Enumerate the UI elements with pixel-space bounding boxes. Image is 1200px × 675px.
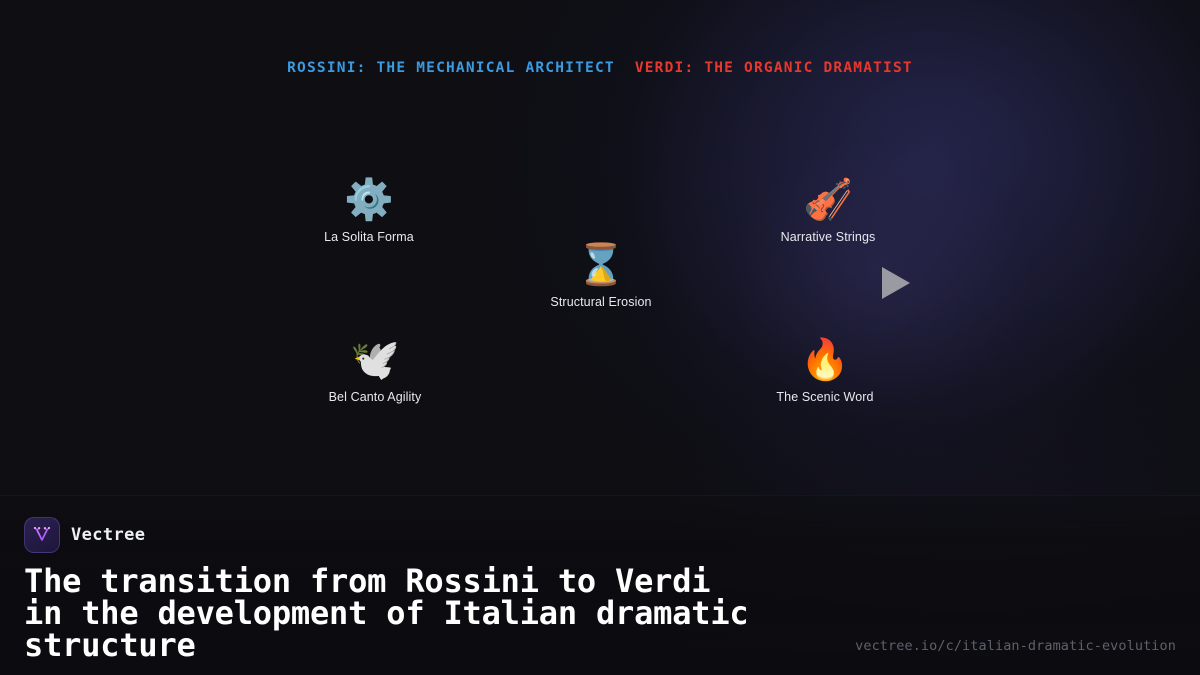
vectree-logo-icon [24, 517, 60, 553]
hourglass-icon: ⌛ [496, 241, 706, 289]
column-headers: ROSSINI: THE MECHANICAL ARCHITECTVERDI: … [0, 60, 1200, 76]
play-triangle-icon[interactable] [882, 267, 910, 299]
column-header-verdi: VERDI: THE ORGANIC DRAMATIST [635, 60, 913, 76]
node-label: The Scenic Word [720, 390, 930, 404]
node-label: Structural Erosion [496, 295, 706, 309]
node-the-scenic-word[interactable]: 🔥 The Scenic Word [720, 336, 930, 404]
footer: Vectree The transition from Rossini to V… [0, 495, 1200, 675]
node-label: La Solita Forma [264, 230, 474, 244]
node-label: Bel Canto Agility [270, 390, 480, 404]
page-title: The transition from Rossini to Verdi in … [24, 565, 904, 661]
violin-icon: 🎻 [723, 176, 933, 224]
node-bel-canto-agility[interactable]: 🕊️ Bel Canto Agility [270, 336, 480, 404]
node-la-solita-forma[interactable]: ⚙️ La Solita Forma [264, 176, 474, 244]
brand-row: Vectree [24, 518, 1176, 552]
node-structural-erosion[interactable]: ⌛ Structural Erosion [496, 241, 706, 309]
node-label: Narrative Strings [723, 230, 933, 244]
headline-line-2: in the development of Italian dramatic [24, 597, 904, 629]
brand-name: Vectree [71, 525, 145, 545]
column-header-rossini: ROSSINI: THE MECHANICAL ARCHITECT [287, 60, 615, 76]
page-url[interactable]: vectree.io/c/italian-dramatic-evolution [855, 638, 1176, 654]
headline-line-3: structure [24, 629, 904, 661]
node-narrative-strings[interactable]: 🎻 Narrative Strings [723, 176, 933, 244]
fire-icon: 🔥 [720, 336, 930, 384]
slide-canvas: ROSSINI: THE MECHANICAL ARCHITECTVERDI: … [0, 0, 1200, 675]
dove-icon: 🕊️ [270, 336, 480, 384]
gear-icon: ⚙️ [264, 176, 474, 224]
headline-line-1: The transition from Rossini to Verdi [24, 565, 904, 597]
